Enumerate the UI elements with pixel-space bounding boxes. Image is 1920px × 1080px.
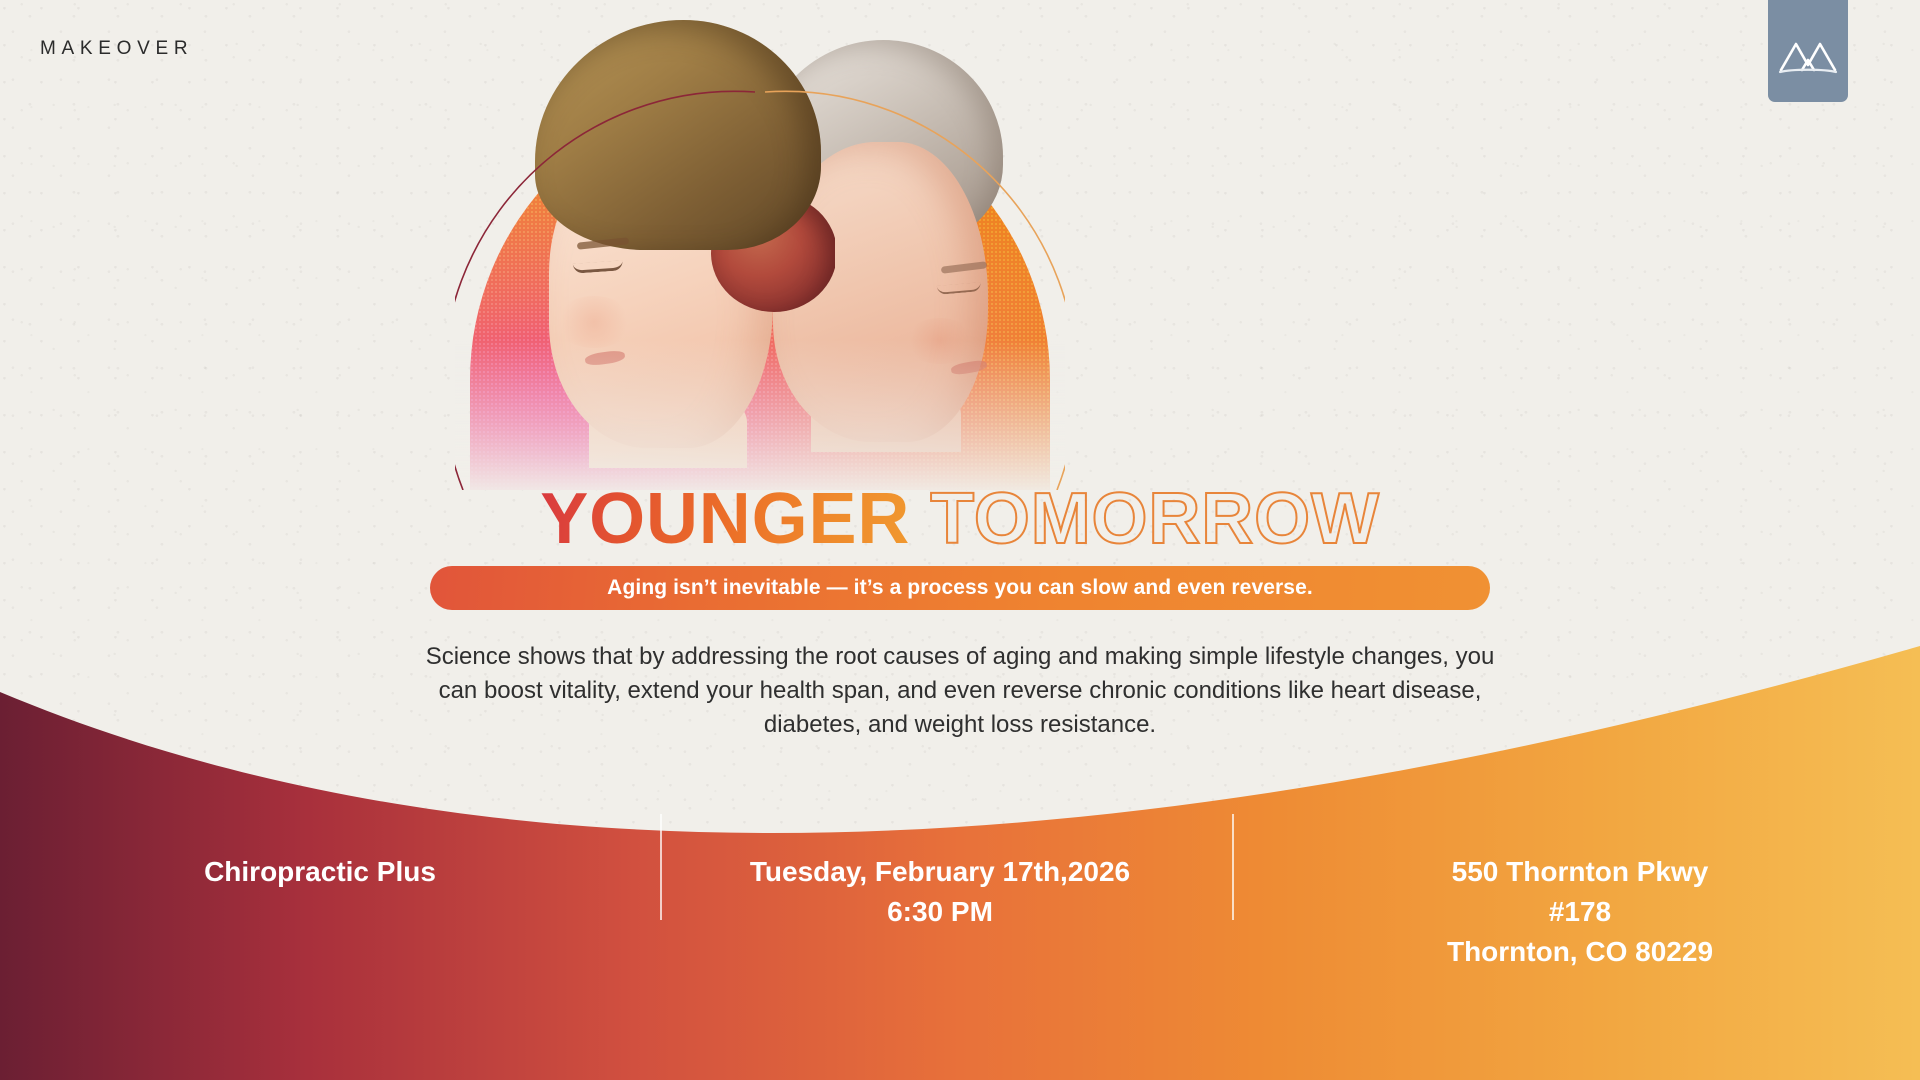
footer-date: Tuesday, February 17th,2026 [664, 852, 1216, 892]
footer-address-line3: Thornton, CO 80229 [1264, 932, 1896, 972]
footer-address: 550 Thornton Pkwy #178 Thornton, CO 8022… [1240, 852, 1920, 971]
footer-bar: Chiropractic Plus Tuesday, February 17th… [0, 810, 1920, 1080]
younger-hair [535, 20, 821, 250]
body-paragraph: Science shows that by addressing the roo… [405, 640, 1515, 742]
hero-portrait [455, 0, 1065, 490]
brand-wordmark: MAKEOVER [40, 38, 193, 60]
younger-cheek [555, 296, 633, 348]
tagline-banner: Aging isn’t inevitable — it’s a process … [430, 566, 1490, 610]
footer-time: 6:30 PM [664, 892, 1216, 932]
footer-host-name: Chiropractic Plus [24, 852, 616, 892]
mountain-peaks-icon [1778, 34, 1838, 78]
headline-word-tomorrow: TOMORROW [930, 483, 1380, 555]
poster-canvas: MAKEOVER YOUNGERTOMORROW Aging isn’t ine… [0, 0, 1920, 1080]
brand-logo[interactable] [1768, 0, 1848, 102]
older-cheek [905, 318, 975, 364]
footer-divider-2 [1232, 814, 1234, 920]
footer-address-line1: 550 Thornton Pkwy [1264, 852, 1896, 892]
headline-word-younger: YOUNGER [540, 483, 910, 555]
footer-datetime: Tuesday, February 17th,2026 6:30 PM [640, 852, 1240, 932]
footer-address-line2: #178 [1264, 892, 1896, 932]
headline: YOUNGERTOMORROW [0, 483, 1920, 555]
tagline-text: Aging isn’t inevitable — it’s a process … [607, 576, 1313, 600]
portrait-younger-woman [515, 8, 835, 468]
footer-host: Chiropractic Plus [0, 852, 640, 892]
